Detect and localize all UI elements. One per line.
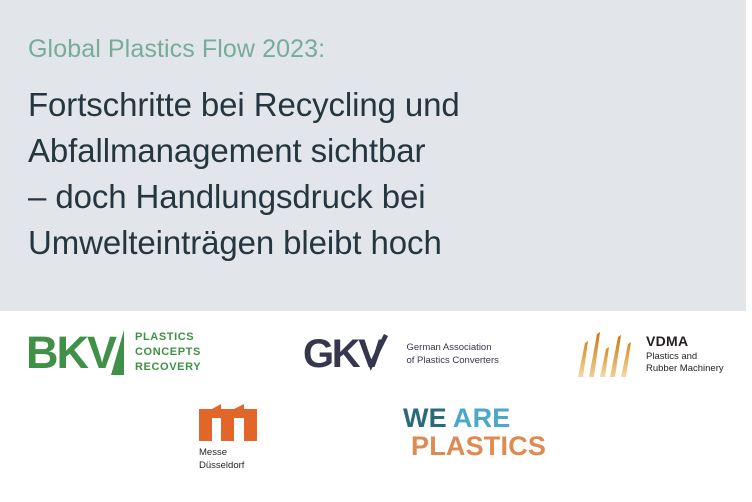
messe-tagline-line-1: Messe	[199, 447, 257, 460]
logo-strip: BKV PLASTICS CONCEPTS RECOVERY GKV Germa…	[0, 311, 752, 502]
bkv-slash-icon	[111, 330, 124, 375]
page-title: Fortschritte bei Recycling und Abfallman…	[28, 82, 718, 266]
bkv-wordmark: BKV	[26, 330, 115, 375]
headline-line-4: Umwelteinträgen bleibt hoch	[28, 220, 718, 266]
eyebrow-text: Global Plastics Flow 2023:	[28, 34, 718, 64]
gkv-tagline-line-2: of Plastics Converters	[406, 354, 498, 367]
logo-vdma: VDMA Plastics and Rubber Machinery	[572, 330, 724, 378]
messe-tagline: Messe Düsseldorf	[199, 447, 257, 472]
vdma-wordmark: VDMA	[646, 333, 724, 349]
wap-line-1: WEARE	[403, 404, 546, 432]
logo-gkv: GKV German Association of Plastics Conve…	[303, 334, 499, 374]
gkv-mark: GKV	[303, 334, 382, 374]
messe-duesseldorf-mark-icon	[199, 404, 257, 441]
headline-line-2: Abfallmanagement sichtbar	[28, 128, 718, 174]
vdma-tagline-line-2: Rubber Machinery	[646, 363, 724, 376]
wap-word-plastics: PLASTICS	[411, 432, 546, 461]
messe-tagline-line-2: Düsseldorf	[199, 460, 257, 473]
wap-word-are: ARE	[453, 403, 511, 433]
bkv-tagline: PLASTICS CONCEPTS RECOVERY	[135, 330, 201, 375]
bkv-tagline-line-2: CONCEPTS	[135, 345, 201, 360]
wap-word-we: WE	[403, 403, 447, 433]
vdma-tagline: VDMA Plastics and Rubber Machinery	[646, 333, 724, 376]
gkv-tagline: German Association of Plastics Converter…	[406, 341, 498, 367]
logo-messe-duesseldorf: Messe Düsseldorf	[199, 404, 257, 472]
bkv-tagline-line-1: PLASTICS	[135, 330, 201, 345]
gkv-checkmark-icon	[362, 334, 388, 368]
gkv-tagline-line-1: German Association	[406, 341, 498, 354]
bkv-tagline-line-3: RECOVERY	[135, 360, 201, 375]
logo-we-are-plastics: WEARE PLASTICS	[403, 404, 546, 461]
vdma-strokes-icon	[572, 330, 634, 378]
vdma-tagline-line-1: Plastics and	[646, 351, 724, 364]
slide-root: Global Plastics Flow 2023: Fortschritte …	[0, 0, 752, 502]
headline-line-3: – doch Handlungsdruck bei	[28, 174, 718, 220]
vdma-subtitle: Plastics and Rubber Machinery	[646, 351, 724, 376]
header-panel: Global Plastics Flow 2023: Fortschritte …	[0, 0, 746, 311]
logo-bkv: BKV PLASTICS CONCEPTS RECOVERY	[26, 330, 201, 375]
headline-line-1: Fortschritte bei Recycling und	[28, 82, 718, 128]
